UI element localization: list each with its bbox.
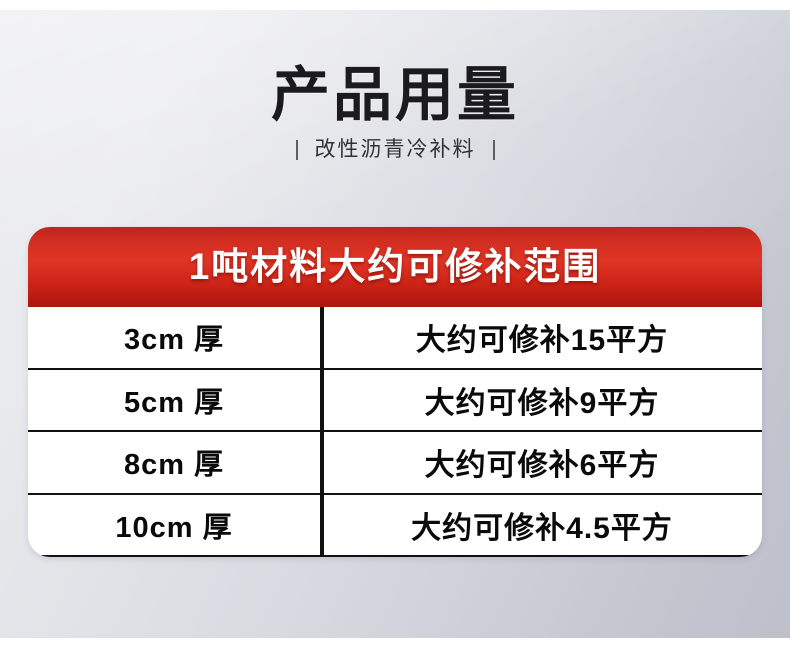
cell-thickness: 3cm 厚 — [28, 307, 322, 368]
vertical-rule-right-icon — [493, 140, 495, 160]
column-divider — [322, 307, 324, 557]
table-row: 5cm 厚 大约可修补9平方 — [28, 370, 762, 433]
vertical-rule-left-icon — [296, 140, 298, 160]
table-body: 3cm 厚 大约可修补15平方 5cm 厚 大约可修补9平方 8cm 厚 大约可… — [28, 307, 762, 557]
table-row: 10cm 厚 大约可修补4.5平方 — [28, 495, 762, 558]
subtitle-row: 改性沥青冷补料 — [0, 138, 790, 162]
page-subtitle: 改性沥青冷补料 — [315, 138, 476, 162]
table-row: 8cm 厚 大约可修补6平方 — [28, 432, 762, 495]
cell-coverage: 大约可修补4.5平方 — [322, 495, 762, 556]
cell-thickness: 8cm 厚 — [28, 432, 322, 493]
product-usage-infographic: 产品用量 改性沥青冷补料 1吨材料大约可修补范围 3cm 厚 大约可修补15平方… — [0, 0, 790, 651]
cell-thickness: 10cm 厚 — [28, 495, 322, 556]
cell-thickness: 5cm 厚 — [28, 370, 322, 431]
bottom-white-strip — [0, 638, 790, 651]
table-header-bar: 1吨材料大约可修补范围 — [28, 227, 762, 307]
cell-coverage: 大约可修补6平方 — [322, 432, 762, 493]
table-header-title: 1吨材料大约可修补范围 — [189, 246, 602, 288]
page-title: 产品用量 — [0, 62, 790, 128]
cell-coverage: 大约可修补15平方 — [322, 307, 762, 368]
cell-coverage: 大约可修补9平方 — [322, 370, 762, 431]
table-row: 3cm 厚 大约可修补15平方 — [28, 307, 762, 370]
usage-table-card: 1吨材料大约可修补范围 3cm 厚 大约可修补15平方 5cm 厚 大约可修补9… — [28, 227, 762, 557]
top-white-strip — [0, 0, 790, 10]
heading-block: 产品用量 改性沥青冷补料 — [0, 62, 790, 162]
